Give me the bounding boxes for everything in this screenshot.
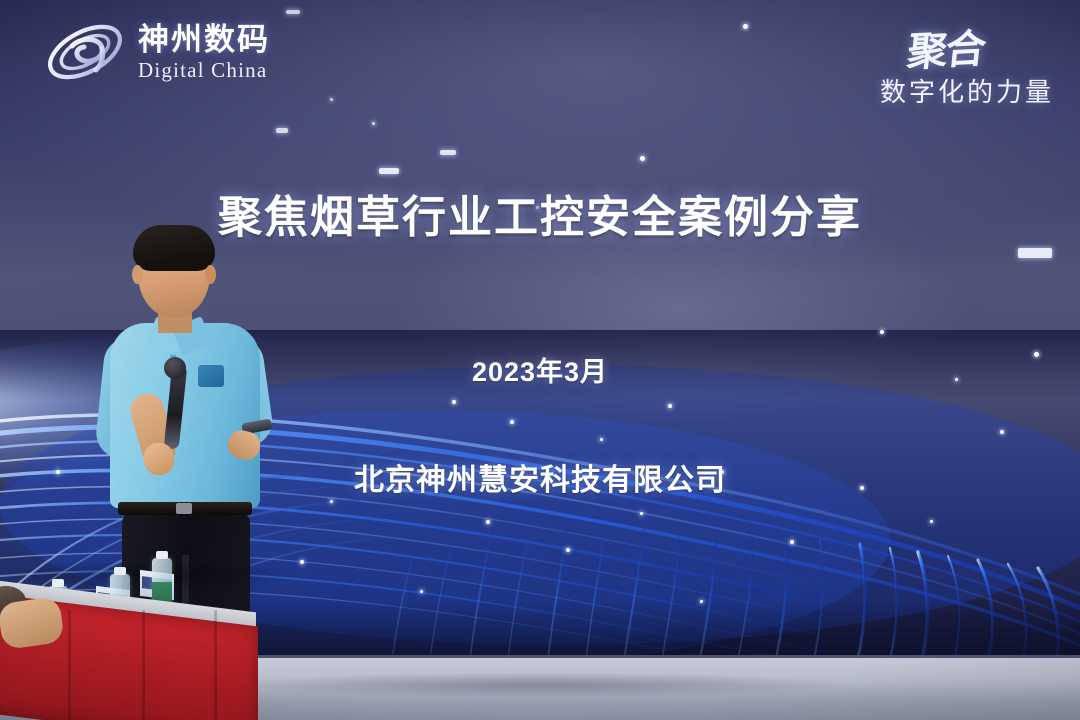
cloth-fold <box>68 610 71 720</box>
speaker-ear-right <box>205 265 216 284</box>
stage-floor-shadow <box>230 672 850 698</box>
digital-china-swirl-icon <box>42 16 128 88</box>
belt-buckle <box>176 503 192 514</box>
conference-photo: 神州数码 Digital China 聚合 数字化的力量 聚焦烟草行业工控安全案… <box>0 0 1080 720</box>
slogan-calligraphy: 聚合 <box>905 16 988 78</box>
shirt-logo-patch-icon <box>198 365 224 387</box>
speaker-ear-left <box>132 265 143 284</box>
cloth-fold <box>214 610 217 720</box>
microphone-head-icon <box>164 357 186 379</box>
event-slogan-logo: 聚合 数字化的力量 <box>880 18 1054 109</box>
digital-china-logo: 神州数码 Digital China <box>42 16 270 88</box>
digital-china-wordmark: 神州数码 Digital China <box>138 24 270 81</box>
brand-name-en: Digital China <box>138 60 270 81</box>
speaker-hair <box>133 225 215 271</box>
brand-name-cn: 神州数码 <box>138 24 270 55</box>
cloth-fold <box>142 610 145 720</box>
